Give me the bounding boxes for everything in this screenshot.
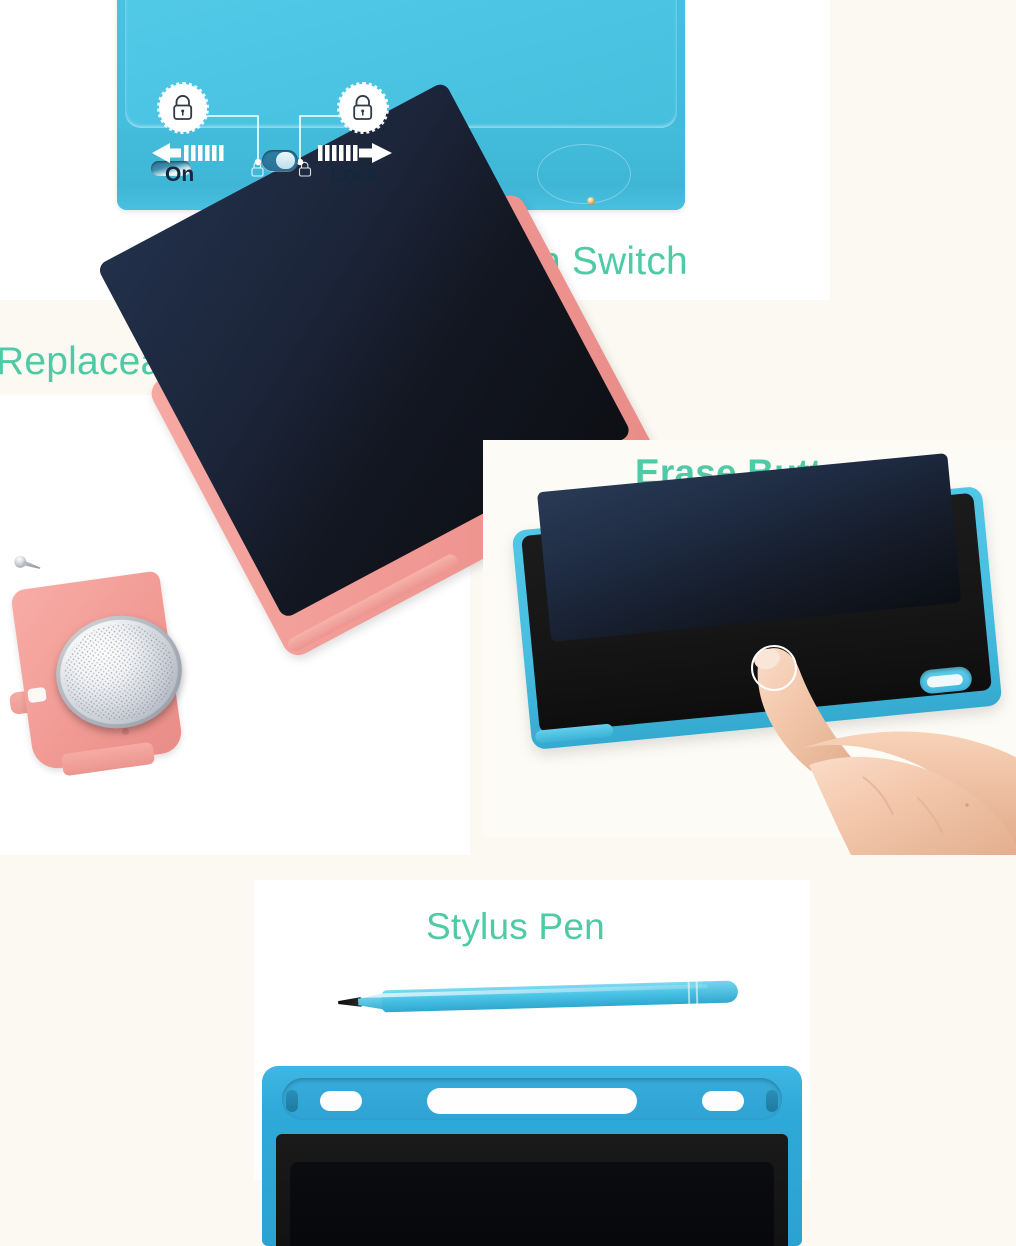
erase-button-highlight-ring[interactable] <box>751 645 797 691</box>
stylus-pen <box>338 974 739 1019</box>
switch-label-lock: Lock <box>330 163 379 187</box>
tablet-top-frame <box>262 1066 802 1246</box>
compartment-screw <box>587 197 595 205</box>
carry-handle <box>427 1088 637 1114</box>
section-erase-button: Erase Button <box>483 440 1016 838</box>
lock-slider-switch[interactable] <box>262 150 298 171</box>
small-locked-padlock-icon <box>297 160 313 178</box>
unlocked-padlock-icon <box>161 86 205 130</box>
lcd-screen <box>537 453 961 642</box>
lanyard-hole-left <box>286 1090 298 1112</box>
slot-right <box>702 1091 744 1111</box>
switch-label-on: On <box>165 163 194 187</box>
battery-tray <box>10 580 185 785</box>
tray-notch <box>27 687 47 703</box>
caption-stylus-pen: Stylus Pen <box>426 906 605 948</box>
slot-left <box>320 1091 362 1111</box>
screw-shaft <box>22 560 41 570</box>
frame-lcd-screen <box>290 1162 774 1246</box>
section-stylus-pen: Stylus Pen <box>254 880 810 1180</box>
locked-padlock-icon <box>341 86 385 130</box>
battery-compartment-circle <box>537 144 631 204</box>
section-replaceable-battery <box>0 395 470 855</box>
frame-shell <box>262 1066 802 1246</box>
infographic-stage: On Lock Lock Protection Switch Replaceab… <box>0 0 1016 1180</box>
mounting-screw <box>13 554 41 573</box>
lanyard-hole-right <box>766 1090 778 1112</box>
